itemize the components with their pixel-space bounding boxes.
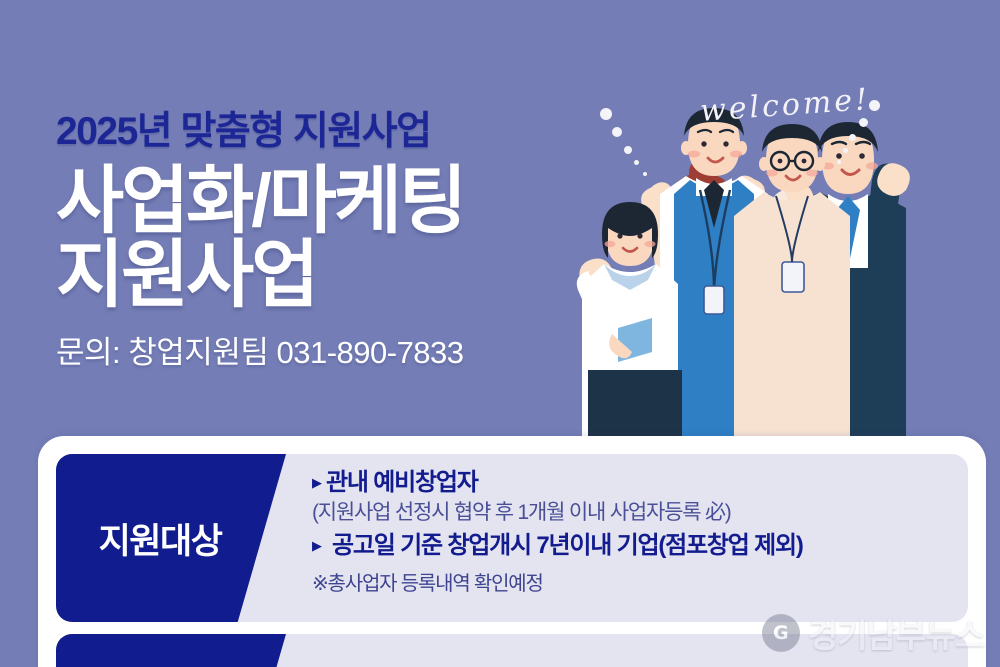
row-label-text: 지원대상: [99, 513, 222, 564]
dot-trail-right-4: [843, 148, 848, 153]
title-line-2: 지원사업: [56, 239, 616, 311]
info-row-support-target: 지원대상 ▶ 관내 예비창업자 (지원사업 선정시 협약 후 1개월 이내 사업…: [56, 454, 968, 622]
list-item-text: 관내 예비창업자: [326, 470, 478, 496]
title-line-1: 사업화/마케팅: [56, 165, 616, 237]
watermark: G 경기남부뉴스: [762, 609, 984, 657]
dot-trail-left-4: [634, 160, 639, 165]
triangle-bullet-icon: ▶: [312, 476, 322, 489]
watermark-logo-letter: G: [773, 622, 789, 644]
row-label-second: [56, 634, 286, 667]
dot-trail-right-5: [837, 160, 841, 164]
headline-block: 2025년 맞춤형 지원사업 사업화/마케팅 지원사업 문의: 창업지원팀 03…: [56, 112, 616, 372]
list-item-text: 공고일 기준 창업개시 7년이내 기업(점포창업 제외): [332, 533, 803, 559]
dot-trail-left-5: [643, 172, 647, 176]
play-logo-icon: G: [762, 614, 800, 652]
dot-trail-right-2: [859, 118, 868, 127]
list-item: ▶ 관내 예비창업자: [312, 470, 958, 496]
triangle-bullet-icon: ▶: [312, 539, 322, 552]
list-item-note: ※총사업자 등록내역 확인예정: [312, 567, 958, 596]
row-content-support-target: ▶ 관내 예비창업자 (지원사업 선정시 협약 후 1개월 이내 사업자등록 必…: [268, 454, 958, 622]
eyebrow-text: 2025년 맞춤형 지원사업: [56, 112, 616, 151]
list-item-subtext: (지원사업 선정시 협약 후 1개월 이내 사업자등록 必): [312, 501, 958, 525]
watermark-text: 경기남부뉴스: [808, 609, 984, 657]
dot-trail-left-3: [624, 146, 632, 154]
contact-line: 문의: 창업지원팀 031-890-7833: [56, 327, 616, 372]
dot-trail-right-3: [849, 134, 856, 141]
poster-canvas: welcome! 2025년 맞춤형 지원사업 사업화/마케팅 지원사업 문의:…: [0, 0, 1000, 667]
list-item: ▶ 공고일 기준 창업개시 7년이내 기업(점포창업 제외): [312, 533, 958, 559]
